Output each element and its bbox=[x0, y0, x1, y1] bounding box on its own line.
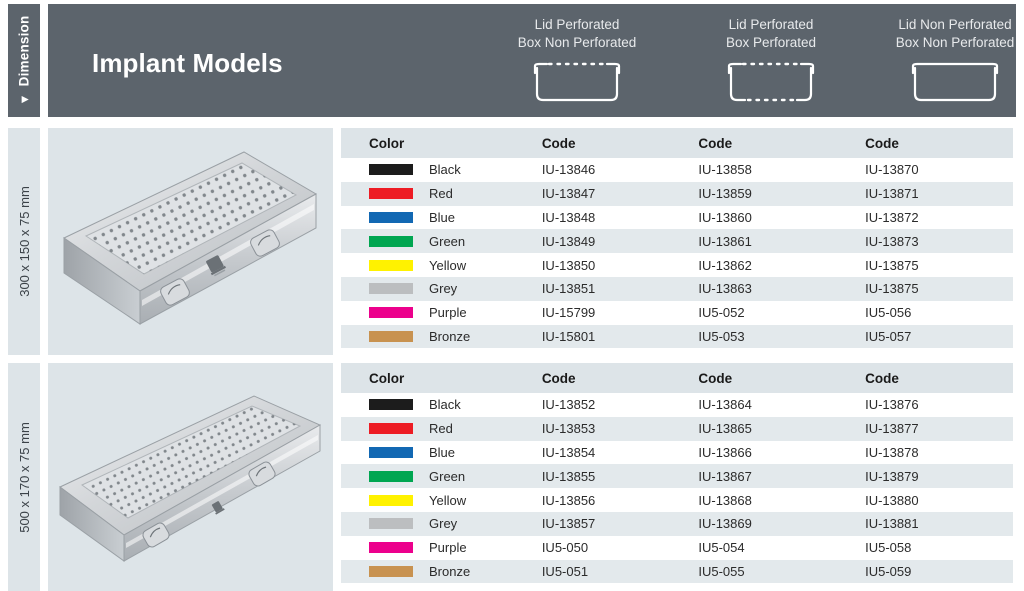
column-label-code-2: Code bbox=[698, 136, 732, 151]
column-label-color: Color bbox=[369, 136, 404, 151]
codes-table-500: Color Code Code Code BlackIU-13852IU-138… bbox=[341, 363, 1013, 591]
column-header-line1: Lid Perforated bbox=[482, 16, 672, 34]
product-code-2: IU-13863 bbox=[698, 281, 751, 296]
color-swatch bbox=[369, 188, 413, 199]
product-code-3: IU-13878 bbox=[865, 445, 918, 460]
product-code-1: IU-13848 bbox=[542, 210, 595, 225]
product-code-3: IU5-059 bbox=[865, 564, 911, 579]
color-name: Bronze bbox=[429, 564, 470, 579]
table-row[interactable]: BlueIU-13848IU-13860IU-13872 bbox=[341, 206, 1013, 230]
product-code-3: IU-13875 bbox=[865, 281, 918, 296]
table-row[interactable]: GreyIU-13851IU-13863IU-13875 bbox=[341, 277, 1013, 301]
column-label-color: Color bbox=[369, 371, 404, 386]
color-name: Grey bbox=[429, 516, 457, 531]
product-code-1: IU-13853 bbox=[542, 421, 595, 436]
dimension-label-300: 300 x 150 x 75 mm bbox=[8, 128, 40, 355]
color-swatch bbox=[369, 236, 413, 247]
product-code-2: IU-13861 bbox=[698, 234, 751, 249]
chevron-down-icon: ▼ bbox=[18, 93, 30, 105]
product-code-3: IU-13871 bbox=[865, 186, 918, 201]
table-row[interactable]: RedIU-13847IU-13859IU-13871 bbox=[341, 182, 1013, 206]
column-header-line2: Box Non Perforated bbox=[482, 34, 672, 52]
product-code-3: IU-13872 bbox=[865, 210, 918, 225]
product-code-2: IU-13868 bbox=[698, 493, 751, 508]
product-code-2: IU-13866 bbox=[698, 445, 751, 460]
table-header-row: Color Code Code Code bbox=[341, 363, 1013, 393]
color-swatch bbox=[369, 518, 413, 529]
table-row[interactable]: BlackIU-13852IU-13864IU-13876 bbox=[341, 393, 1013, 417]
product-code-1: IU-13857 bbox=[542, 516, 595, 531]
color-swatch bbox=[369, 495, 413, 506]
table-row[interactable]: YellowIU-13856IU-13868IU-13880 bbox=[341, 488, 1013, 512]
product-code-2: IU5-055 bbox=[698, 564, 744, 579]
product-code-1: IU-15799 bbox=[542, 305, 595, 320]
product-code-1: IU-13851 bbox=[542, 281, 595, 296]
product-code-2: IU-13869 bbox=[698, 516, 751, 531]
column-header-lid-perforated-box-perforated: Lid Perforated Box Perforated bbox=[676, 16, 866, 104]
color-swatch bbox=[369, 423, 413, 434]
color-name: Green bbox=[429, 234, 465, 249]
product-code-2: IU-13865 bbox=[698, 421, 751, 436]
product-code-3: IU-13881 bbox=[865, 516, 918, 531]
color-name: Red bbox=[429, 186, 453, 201]
product-section-500: 500 x 170 x 75 mm bbox=[0, 363, 1024, 591]
product-code-2: IU-13858 bbox=[698, 162, 751, 177]
column-header-lid-non-perforated-box-non-perforated: Lid Non Perforated Box Non Perforated bbox=[860, 16, 1024, 104]
product-code-3: IU5-056 bbox=[865, 305, 911, 320]
color-name: Purple bbox=[429, 305, 467, 320]
color-swatch bbox=[369, 212, 413, 223]
product-code-3: IU-13880 bbox=[865, 493, 918, 508]
table-row[interactable]: GreyIU-13857IU-13869IU-13881 bbox=[341, 512, 1013, 536]
page-header: ▼ Dimension Implant Models Lid Perforate… bbox=[0, 0, 1024, 121]
table-row[interactable]: PurpleIU5-050IU5-054IU5-058 bbox=[341, 536, 1013, 560]
table-row[interactable]: YellowIU-13850IU-13862IU-13875 bbox=[341, 253, 1013, 277]
column-header-lid-perforated-box-non-perforated: Lid Perforated Box Non Perforated bbox=[482, 16, 672, 104]
column-label-code-3: Code bbox=[865, 136, 899, 151]
column-header-line2: Box Perforated bbox=[676, 34, 866, 52]
product-code-2: IU5-052 bbox=[698, 305, 744, 320]
product-code-2: IU-13862 bbox=[698, 258, 751, 273]
product-code-2: IU-13860 bbox=[698, 210, 751, 225]
table-header-row: Color Code Code Code bbox=[341, 128, 1013, 158]
product-code-1: IU5-051 bbox=[542, 564, 588, 579]
dimension-label-500: 500 x 170 x 75 mm bbox=[8, 363, 40, 591]
page-title: Implant Models bbox=[92, 48, 283, 79]
column-header-line1: Lid Perforated bbox=[676, 16, 866, 34]
column-header-line1: Lid Non Perforated bbox=[860, 16, 1024, 34]
product-code-2: IU5-054 bbox=[698, 540, 744, 555]
color-name: Blue bbox=[429, 445, 455, 460]
product-code-1: IU-13855 bbox=[542, 469, 595, 484]
product-code-3: IU5-058 bbox=[865, 540, 911, 555]
table-row[interactable]: RedIU-13853IU-13865IU-13877 bbox=[341, 417, 1013, 441]
product-code-1: IU-13847 bbox=[542, 186, 595, 201]
column-label-code-1: Code bbox=[542, 371, 576, 386]
color-swatch bbox=[369, 542, 413, 553]
color-swatch bbox=[369, 307, 413, 318]
product-code-3: IU-13876 bbox=[865, 397, 918, 412]
product-code-2: IU-13859 bbox=[698, 186, 751, 201]
box-lid-and-box-perforated-icon bbox=[676, 60, 866, 104]
product-code-3: IU-13875 bbox=[865, 258, 918, 273]
color-name: Yellow bbox=[429, 493, 466, 508]
color-name: Red bbox=[429, 421, 453, 436]
color-name: Blue bbox=[429, 210, 455, 225]
color-swatch bbox=[369, 164, 413, 175]
product-code-2: IU5-053 bbox=[698, 329, 744, 344]
table-row[interactable]: GreenIU-13855IU-13867IU-13879 bbox=[341, 464, 1013, 488]
table-row[interactable]: BronzeIU-15801IU5-053IU5-057 bbox=[341, 325, 1013, 349]
product-code-1: IU5-050 bbox=[542, 540, 588, 555]
product-code-3: IU-13870 bbox=[865, 162, 918, 177]
product-code-2: IU-13864 bbox=[698, 397, 751, 412]
color-swatch bbox=[369, 566, 413, 577]
color-swatch bbox=[369, 331, 413, 342]
product-code-1: IU-15801 bbox=[542, 329, 595, 344]
color-name: Black bbox=[429, 162, 461, 177]
color-swatch bbox=[369, 447, 413, 458]
product-code-2: IU-13867 bbox=[698, 469, 751, 484]
column-label-code-1: Code bbox=[542, 136, 576, 151]
table-row[interactable]: BronzeIU5-051IU5-055IU5-059 bbox=[341, 560, 1013, 584]
box-non-perforated-icon bbox=[860, 60, 1024, 104]
product-code-3: IU5-057 bbox=[865, 329, 911, 344]
product-code-3: IU-13877 bbox=[865, 421, 918, 436]
box-lid-perforated-icon bbox=[482, 60, 672, 104]
table-row[interactable]: PurpleIU-15799IU5-052IU5-056 bbox=[341, 301, 1013, 325]
codes-table-300: Color Code Code Code BlackIU-13846IU-138… bbox=[341, 128, 1013, 355]
product-code-1: IU-13846 bbox=[542, 162, 595, 177]
product-code-1: IU-13849 bbox=[542, 234, 595, 249]
product-code-1: IU-13852 bbox=[542, 397, 595, 412]
color-name: Green bbox=[429, 469, 465, 484]
color-name: Bronze bbox=[429, 329, 470, 344]
dimension-tab-label: Dimension bbox=[17, 16, 32, 87]
product-code-1: IU-13854 bbox=[542, 445, 595, 460]
implant-model-container-300 bbox=[48, 128, 333, 355]
product-code-3: IU-13873 bbox=[865, 234, 918, 249]
implant-model-container-500 bbox=[48, 363, 333, 591]
product-section-300: 300 x 150 x 75 mm bbox=[0, 128, 1024, 355]
color-name: Yellow bbox=[429, 258, 466, 273]
color-swatch bbox=[369, 260, 413, 271]
header-bar: Implant Models Lid Perforated Box Non Pe… bbox=[48, 4, 1016, 117]
product-code-3: IU-13879 bbox=[865, 469, 918, 484]
color-swatch bbox=[369, 283, 413, 294]
product-code-1: IU-13856 bbox=[542, 493, 595, 508]
color-name: Grey bbox=[429, 281, 457, 296]
dimension-tab[interactable]: ▼ Dimension bbox=[8, 4, 40, 117]
table-row[interactable]: BlackIU-13846IU-13858IU-13870 bbox=[341, 158, 1013, 182]
color-name: Black bbox=[429, 397, 461, 412]
color-swatch bbox=[369, 471, 413, 482]
column-header-line2: Box Non Perforated bbox=[860, 34, 1024, 52]
color-swatch bbox=[369, 399, 413, 410]
table-row[interactable]: GreenIU-13849IU-13861IU-13873 bbox=[341, 229, 1013, 253]
color-name: Purple bbox=[429, 540, 467, 555]
column-label-code-2: Code bbox=[698, 371, 732, 386]
implant-models-catalog-page: ▼ Dimension Implant Models Lid Perforate… bbox=[0, 0, 1024, 591]
table-row[interactable]: BlueIU-13854IU-13866IU-13878 bbox=[341, 441, 1013, 465]
column-label-code-3: Code bbox=[865, 371, 899, 386]
product-code-1: IU-13850 bbox=[542, 258, 595, 273]
